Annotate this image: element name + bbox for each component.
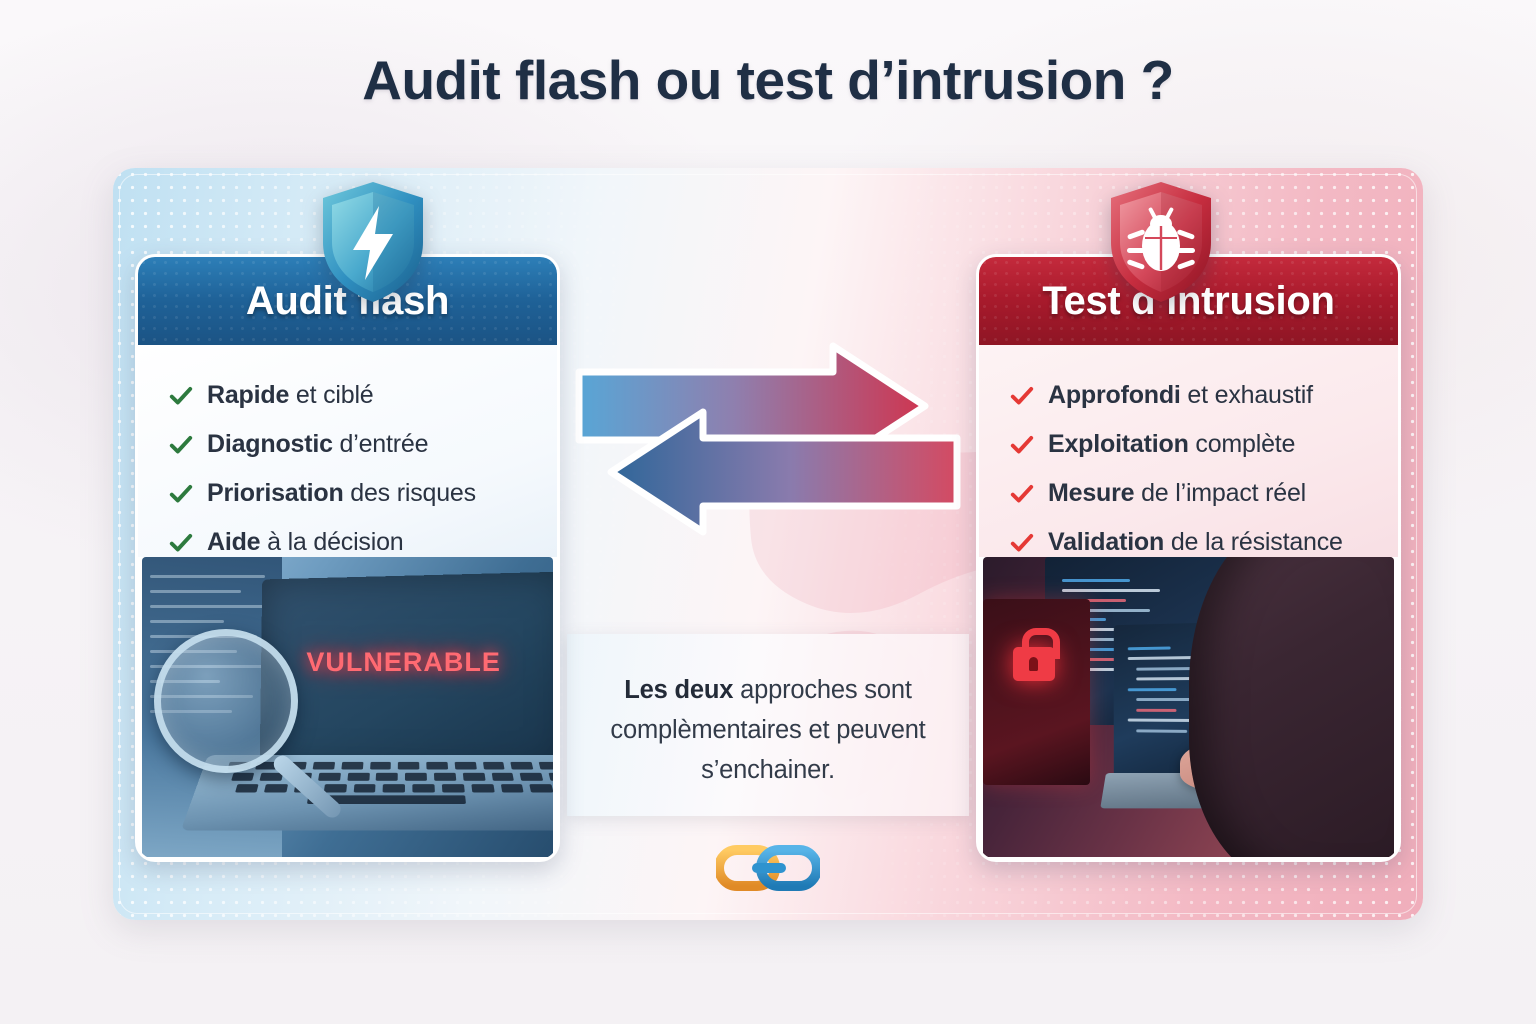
bullet-strong: Approfondi xyxy=(1048,381,1181,409)
bullet-strong: Diagnostic xyxy=(207,430,333,458)
padlock-icon xyxy=(1013,647,1055,681)
bullet-strong: Validation xyxy=(1048,528,1164,556)
check-icon xyxy=(1009,481,1035,507)
bullet-rest: des risques xyxy=(344,479,476,507)
test-intrusion-bullet-list: Approfondi et exhaustif Exploitation com… xyxy=(979,345,1398,557)
list-item: Priorisation des risques xyxy=(168,469,557,518)
center-caption: Les deux approches sont complèmentaires … xyxy=(567,670,969,790)
list-item: Rapide et ciblé xyxy=(168,371,557,420)
vulnerable-label: VULNERABLE xyxy=(306,647,501,678)
page-title: Audit flash ou test d’intrusion ? xyxy=(0,48,1536,112)
check-icon xyxy=(168,432,194,458)
check-icon xyxy=(1009,383,1035,409)
hooded-figure xyxy=(1189,557,1395,857)
screen-with-padlock xyxy=(983,599,1090,785)
bidirectional-arrows-icon xyxy=(575,338,961,558)
laptop-code-magnifier-photo: VULNERABLE xyxy=(142,557,553,857)
list-item: Mesure de l’impact réel xyxy=(1009,469,1398,518)
test-intrusion-panel[interactable]: Test d’intrusion Approfondi et exhaustif… xyxy=(976,254,1401,862)
list-item: Approfondi et exhaustif xyxy=(1009,371,1398,420)
list-item: Exploitation complète xyxy=(1009,420,1398,469)
bullet-rest: complète xyxy=(1189,430,1296,458)
check-icon xyxy=(168,530,194,556)
center-column: Les deux approches sont complèmentaires … xyxy=(575,254,961,862)
bullet-rest: de l’impact réel xyxy=(1134,479,1306,507)
shield-bug-icon xyxy=(1105,180,1217,304)
chain-link-icon xyxy=(716,844,820,892)
bullet-rest: et ciblé xyxy=(289,381,373,409)
bullet-strong: Exploitation xyxy=(1048,430,1189,458)
list-item: Diagnostic d’entrée xyxy=(168,420,557,469)
bullet-strong: Priorisation xyxy=(207,479,344,507)
bullet-rest: à la décision xyxy=(260,528,403,556)
check-icon xyxy=(1009,432,1035,458)
bullet-strong: Rapide xyxy=(207,381,289,409)
bullet-rest: d’entrée xyxy=(333,430,429,458)
check-icon xyxy=(168,481,194,507)
bullet-strong: Aide xyxy=(207,528,260,556)
bullet-rest: de la résistance xyxy=(1164,528,1343,556)
check-icon xyxy=(1009,530,1035,556)
comparison-board: Audit flash Rapide et ciblé Diagnostic d… xyxy=(113,168,1423,920)
bullet-rest: et exhaustif xyxy=(1181,381,1313,409)
bullet-strong: Mesure xyxy=(1048,479,1134,507)
caption-plate: Les deux approches sont complèmentaires … xyxy=(567,634,969,816)
audit-flash-bullet-list: Rapide et ciblé Diagnostic d’entrée Prio… xyxy=(138,345,557,557)
shield-lightning-icon xyxy=(317,180,429,304)
magnifying-glass-icon xyxy=(154,629,298,773)
audit-flash-panel[interactable]: Audit flash Rapide et ciblé Diagnostic d… xyxy=(135,254,560,862)
check-icon xyxy=(168,383,194,409)
hooded-hacker-photo xyxy=(983,557,1394,857)
caption-strong: Les deux xyxy=(624,676,733,704)
